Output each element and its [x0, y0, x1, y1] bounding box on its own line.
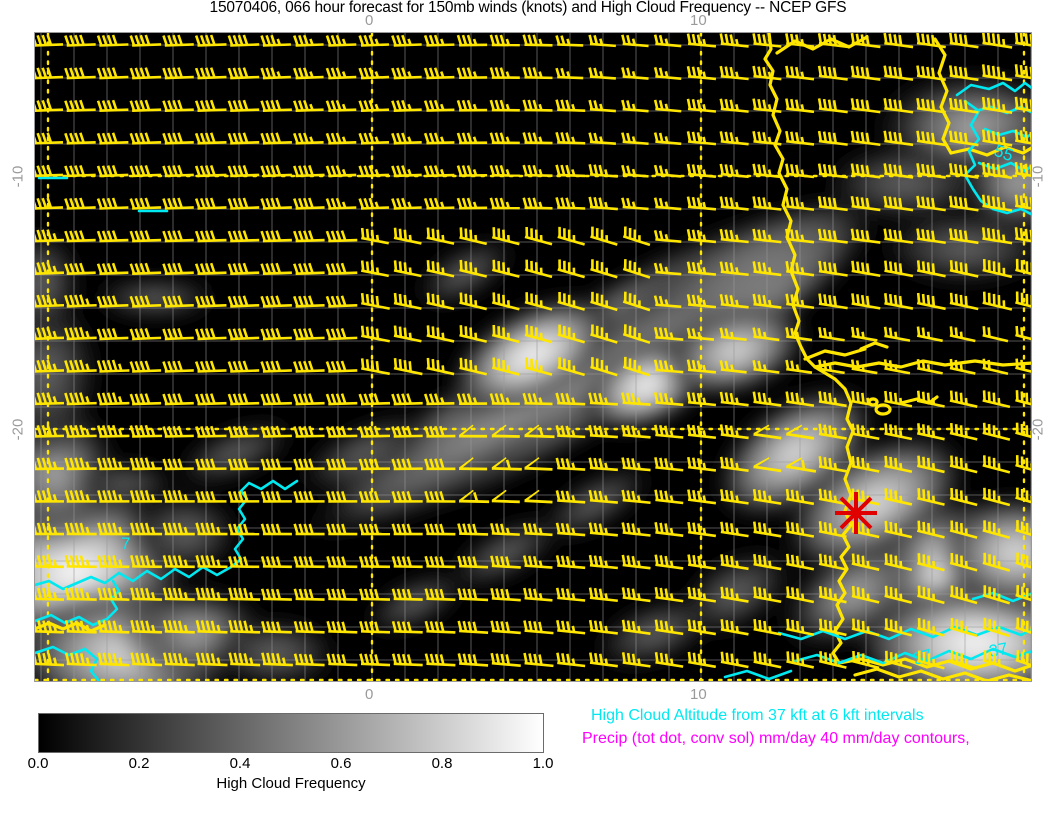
page-title: 15070406, 066 hour forecast for 150mb wi…	[0, 0, 1056, 17]
colorbar-gradient	[38, 713, 544, 753]
svg-text:7: 7	[121, 534, 130, 553]
x-axis-tick-bottom-0: 0	[365, 686, 373, 703]
legend-precip: Precip (tot dot, conv sol) mm/day 40 mm/…	[582, 730, 970, 748]
colorbar-title: High Cloud Frequency	[38, 775, 544, 792]
colorbar-tick-5: 1.0	[533, 755, 554, 772]
colorbar-tick-1: 0.2	[129, 755, 150, 772]
colorbar-tick-3: 0.6	[331, 755, 352, 772]
y-axis-tick-left-1: -20	[10, 406, 27, 454]
colorbar: 0.0 0.2 0.4 0.6 0.8 1.0	[38, 713, 544, 753]
map-graphics: 55 37 37 7	[35, 33, 1031, 681]
red-asterisk-marker[interactable]	[835, 492, 877, 534]
y-axis-tick-right-0: -10	[1030, 153, 1047, 201]
map-canvas: 55 37 37 7	[35, 33, 1031, 681]
x-axis-tick-top-0: 0	[365, 12, 373, 29]
map-plot-area[interactable]: 55 37 37 7	[34, 32, 1032, 682]
x-axis-tick-bottom-1: 10	[690, 686, 707, 703]
x-axis-tick-top-1: 10	[690, 12, 707, 29]
colorbar-tick-2: 0.4	[230, 755, 251, 772]
legend-cloud-altitude: High Cloud Altitude from 37 kft at 6 kft…	[591, 707, 924, 725]
y-axis-tick-right-1: -20	[1030, 406, 1047, 454]
y-axis-tick-left-0: -10	[10, 153, 27, 201]
colorbar-tick-0: 0.0	[28, 755, 49, 772]
colorbar-tick-4: 0.8	[432, 755, 453, 772]
